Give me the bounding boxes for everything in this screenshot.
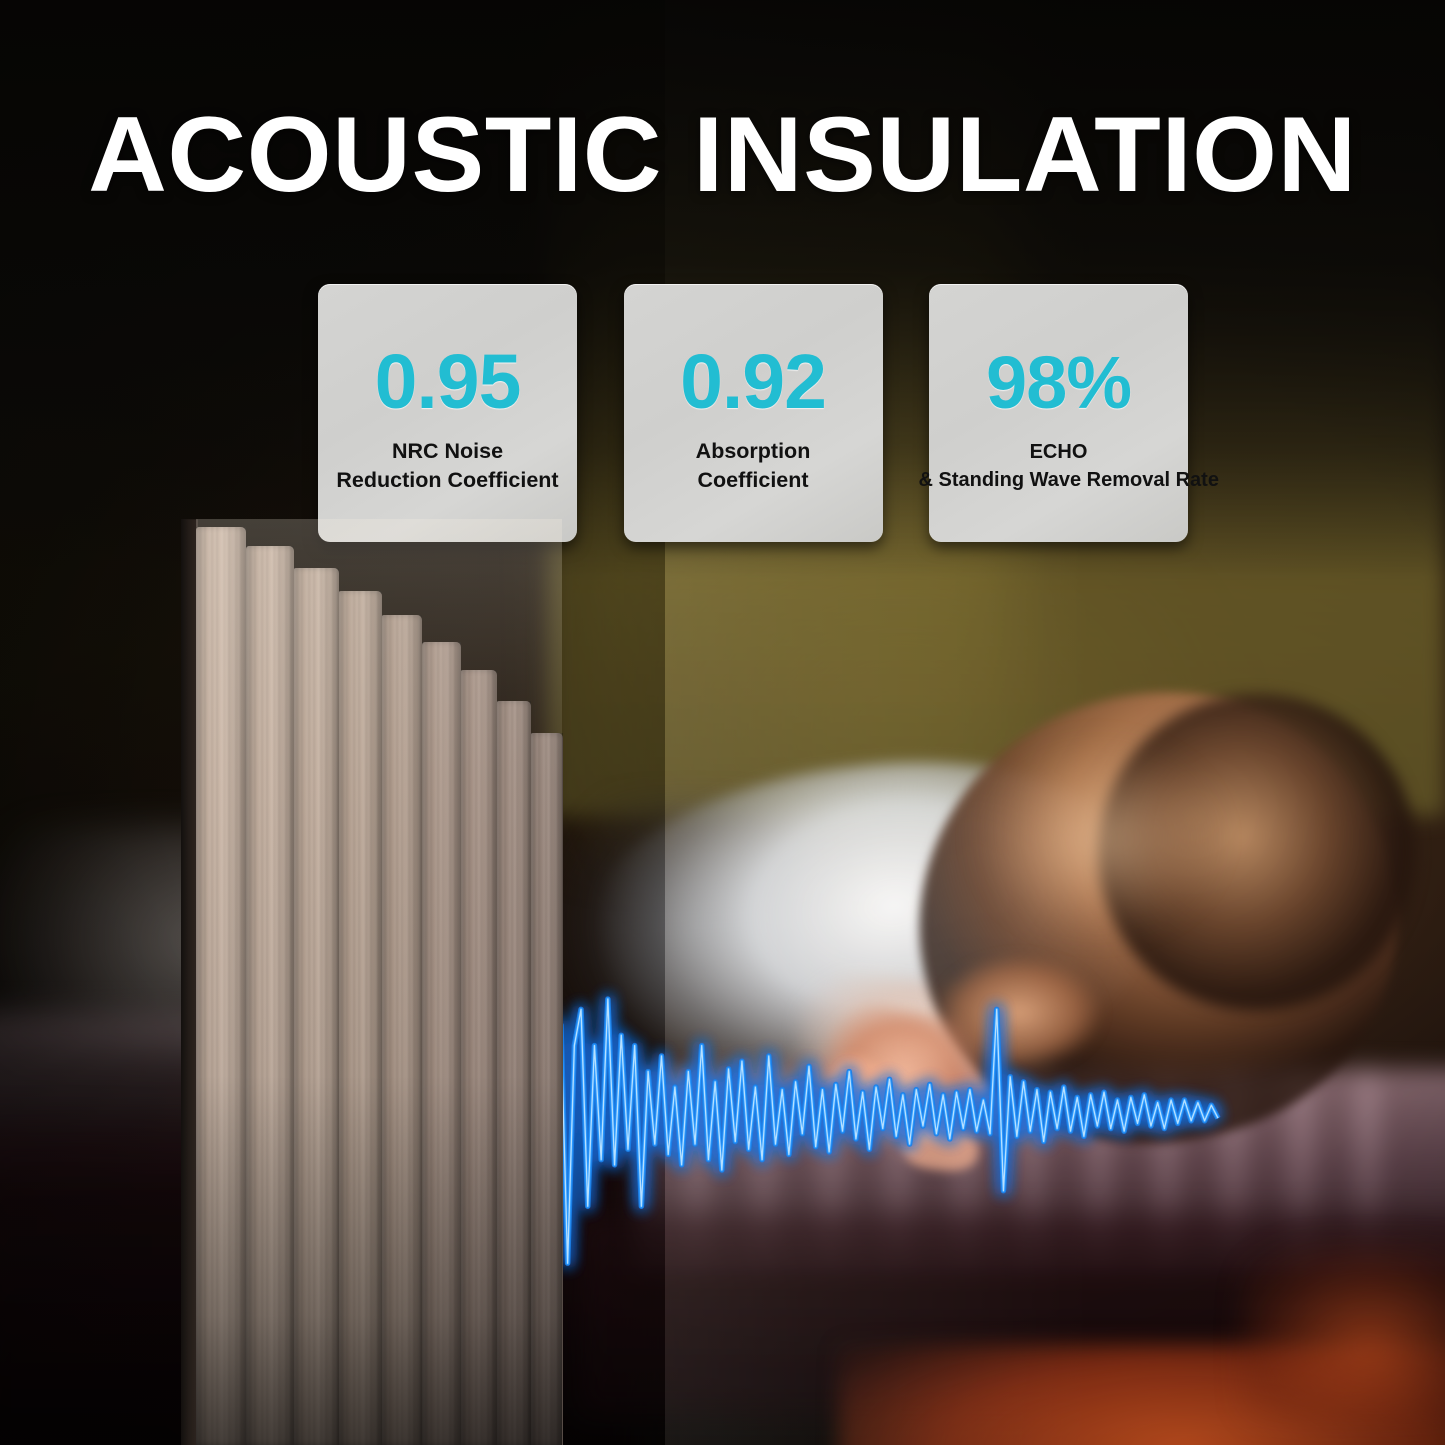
panel-slat: [422, 642, 461, 1445]
stat-label-line2: & Standing Wave Removal Rate: [919, 467, 1199, 495]
stat-label-line2: Reduction Coefficient: [308, 466, 588, 495]
stat-label-line1: ECHO: [919, 439, 1199, 467]
stat-label: ECHO & Standing Wave Removal Rate: [919, 439, 1199, 494]
panel-slat: [293, 568, 339, 1445]
stat-label: NRC Noise Reduction Coefficient: [308, 437, 588, 495]
stat-card-nrc[interactable]: 0.95 NRC Noise Reduction Coefficient: [318, 284, 577, 542]
panel-slat: [381, 615, 422, 1445]
stat-value: 0.92: [680, 344, 826, 421]
panel-slat: [496, 701, 531, 1445]
panel-slats: [196, 519, 562, 1445]
stat-label-line2: Coefficient: [613, 466, 893, 495]
acoustic-slat-panel: [0, 0, 1445, 1445]
stat-card-absorption[interactable]: 0.92 Absorption Coefficient: [624, 284, 883, 542]
stat-value: 0.95: [375, 344, 521, 421]
panel-slat: [196, 527, 246, 1445]
panel-slat: [338, 591, 382, 1445]
panel-slat: [246, 546, 294, 1445]
stat-label: Absorption Coefficient: [613, 437, 893, 495]
stat-label-line1: Absorption: [613, 437, 893, 466]
panel-slat: [530, 733, 563, 1445]
stat-card-group: 0.95 NRC Noise Reduction Coefficient 0.9…: [318, 284, 1188, 542]
panel-slat: [460, 670, 497, 1445]
page-title: ACOUSTIC INSULATION: [0, 101, 1445, 208]
product-marketing-image: ACOUSTIC INSULATION 0.95 NRC Noise Reduc…: [0, 0, 1445, 1445]
stat-label-line1: NRC Noise: [308, 437, 588, 466]
stat-card-echo[interactable]: 98% ECHO & Standing Wave Removal Rate: [929, 284, 1188, 542]
stat-value: 98%: [986, 346, 1131, 420]
